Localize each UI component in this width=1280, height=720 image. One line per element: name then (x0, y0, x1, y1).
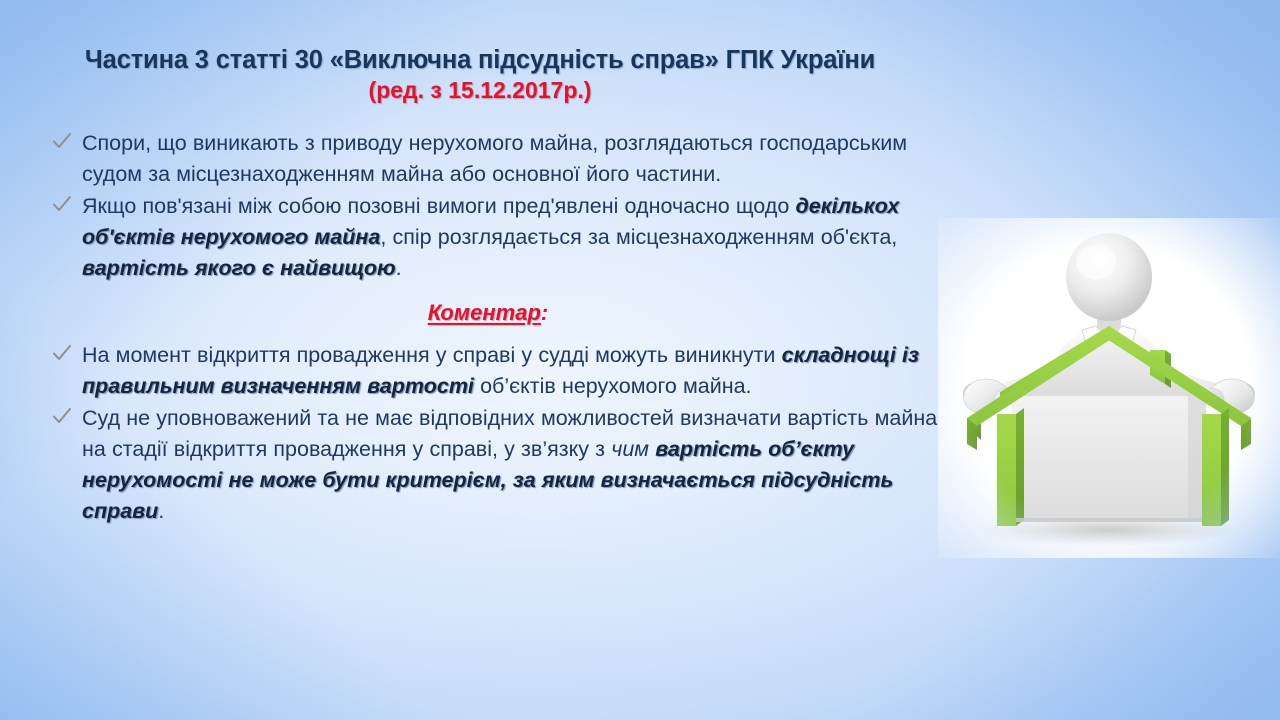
text-run: Якщо пов'язані між собою позовні вимоги … (82, 194, 795, 218)
list-item: Якщо пов'язані між собою позовні вимоги … (48, 191, 940, 284)
comment-heading-colon: : (541, 300, 548, 325)
check-icon (52, 406, 72, 428)
list-item-text: Якщо пов'язані між собою позовні вимоги … (82, 194, 899, 280)
list-item: На момент відкриття провадження у справі… (48, 340, 940, 402)
emphasis-run: вартість якого є найвищою (82, 256, 396, 280)
check-icon (52, 343, 72, 365)
text-run: Спори, що виникають з приводу нерухомого… (82, 131, 907, 186)
comment-heading-word: Коментар (428, 300, 541, 325)
text-run: об’єктів нерухомого майна. (474, 374, 752, 398)
list-item: Спори, що виникають з приводу нерухомого… (48, 128, 940, 190)
check-icon (52, 131, 72, 153)
text-run: , спір розглядається за місцезнаходження… (380, 225, 897, 249)
italic-run: чим (611, 437, 649, 461)
title-line-primary: Частина 3 статті 30 «Виключна підсудніст… (0, 46, 960, 75)
text-run: . (396, 256, 402, 280)
list-item-text: Спори, що виникають з приводу нерухомого… (82, 131, 907, 186)
content-body: Спори, що виникають з приводу нерухомого… (48, 128, 940, 526)
text-run: . (158, 499, 164, 523)
list-item: Суд не уповноважений та не має відповідн… (48, 403, 940, 527)
text-run: На момент відкриття провадження у справі… (82, 343, 782, 367)
check-icon (52, 194, 72, 216)
title-line-revision: (ред. з 15.12.2017р.) (0, 77, 960, 105)
list-item-text: На момент відкриття провадження у справі… (82, 343, 919, 398)
slide-canvas: Частина 3 статті 30 «Виключна підсудніст… (0, 0, 1280, 720)
list-item-text: Суд не уповноважений та не має відповідн… (82, 406, 937, 523)
comment-heading: Коментар: (48, 300, 928, 326)
3d-figure-with-green-house-illustration (938, 218, 1280, 558)
page-title: Частина 3 статті 30 «Виключна підсудніст… (0, 46, 960, 104)
